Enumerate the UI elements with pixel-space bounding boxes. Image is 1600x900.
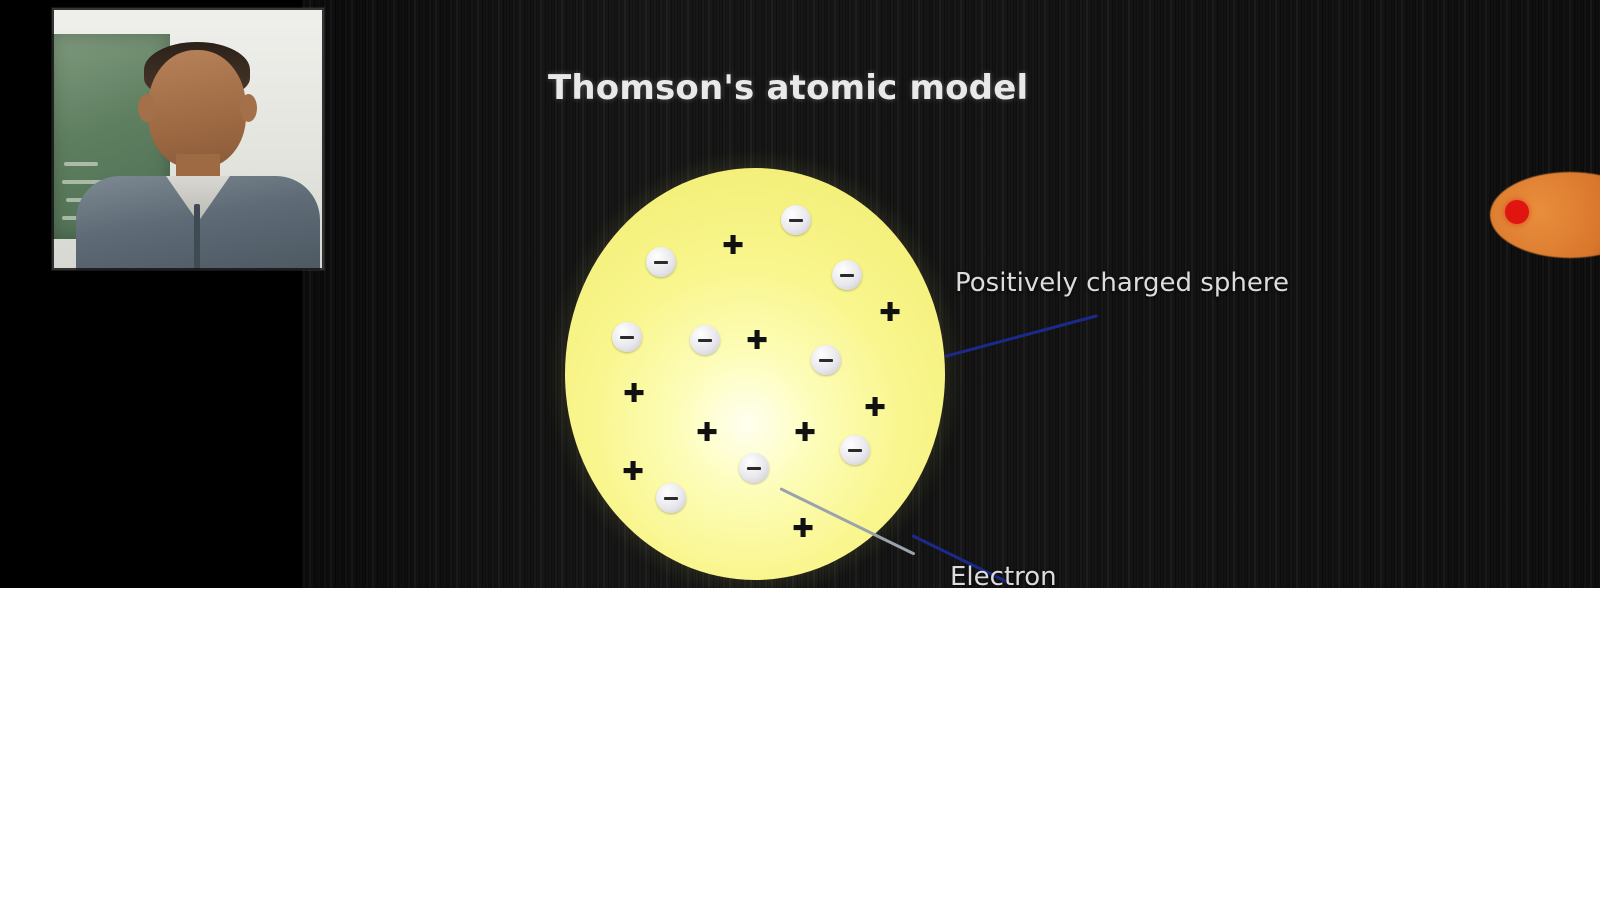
presenter-webcam-overlay[interactable] xyxy=(52,8,324,270)
proton-plus-icon: ✚ xyxy=(622,461,644,483)
electron-icon xyxy=(811,345,841,375)
proton-plus-icon: ✚ xyxy=(794,422,816,444)
proton-plus-icon: ✚ xyxy=(623,383,645,405)
partial-atom-core-icon xyxy=(1505,200,1529,224)
proton-plus-icon: ✚ xyxy=(696,422,718,444)
electron-icon xyxy=(840,435,870,465)
annotation-electron: Electron xyxy=(950,562,1057,588)
proton-plus-icon: ✚ xyxy=(722,235,744,257)
electron-icon xyxy=(690,325,720,355)
electron-icon xyxy=(612,322,642,352)
electron-icon xyxy=(739,453,769,483)
presenter-zipper xyxy=(194,204,200,270)
slide-title: Thomson's atomic model xyxy=(548,68,1028,108)
presenter-head xyxy=(148,50,246,168)
electron-icon xyxy=(646,247,676,277)
annotation-positively-charged-sphere: Positively charged sphere xyxy=(955,268,1289,298)
presenter-ear-left xyxy=(138,94,155,122)
proton-plus-icon: ✚ xyxy=(746,330,768,352)
electron-icon xyxy=(832,260,862,290)
video-player-area[interactable]: Thomson's atomic model ✚✚✚✚✚✚✚✚✚ Positiv… xyxy=(0,0,1600,588)
proton-plus-icon: ✚ xyxy=(879,302,901,324)
positively-charged-sphere-graphic xyxy=(565,168,945,580)
branding-footer: SINCE 1997 KLM INTERNATIONAL SCHOOL SERV… xyxy=(0,588,1600,900)
proton-plus-icon: ✚ xyxy=(792,518,814,540)
proton-plus-icon: ✚ xyxy=(864,397,886,419)
electron-icon xyxy=(781,205,811,235)
electron-icon xyxy=(656,483,686,513)
screenshot-root: Thomson's atomic model ✚✚✚✚✚✚✚✚✚ Positiv… xyxy=(0,0,1600,900)
presenter-ear-right xyxy=(240,94,257,122)
